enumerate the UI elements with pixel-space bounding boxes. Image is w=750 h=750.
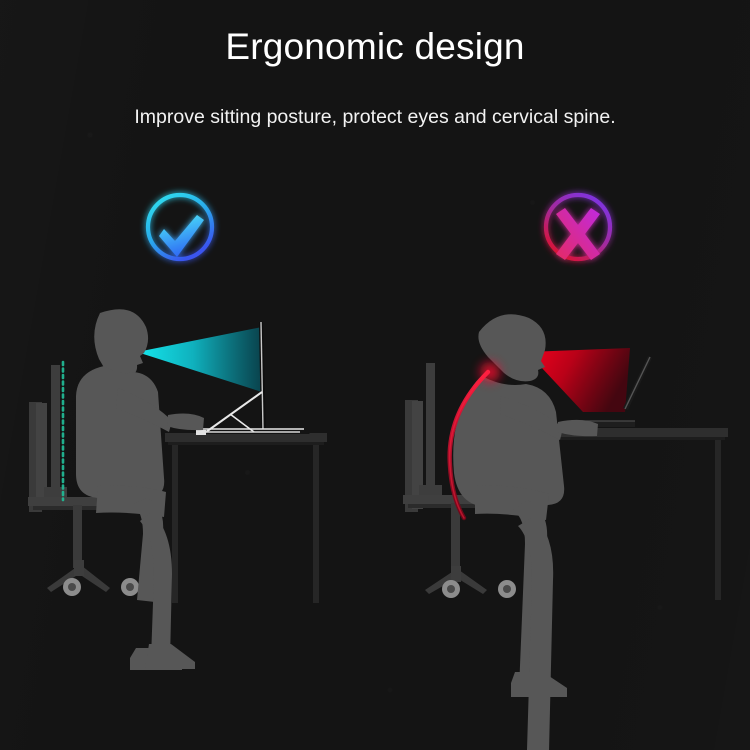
desk-correct <box>165 433 327 603</box>
x-circle-icon <box>546 195 610 260</box>
page-subtitle: Improve sitting posture, protect eyes an… <box>0 106 750 129</box>
page-title: Ergonomic design <box>0 26 750 68</box>
ergonomic-design-infographic: Ergonomic design Improve sitting posture… <box>0 0 750 750</box>
check-circle-icon <box>148 195 212 259</box>
eye-level-gaze-cone <box>137 327 262 392</box>
